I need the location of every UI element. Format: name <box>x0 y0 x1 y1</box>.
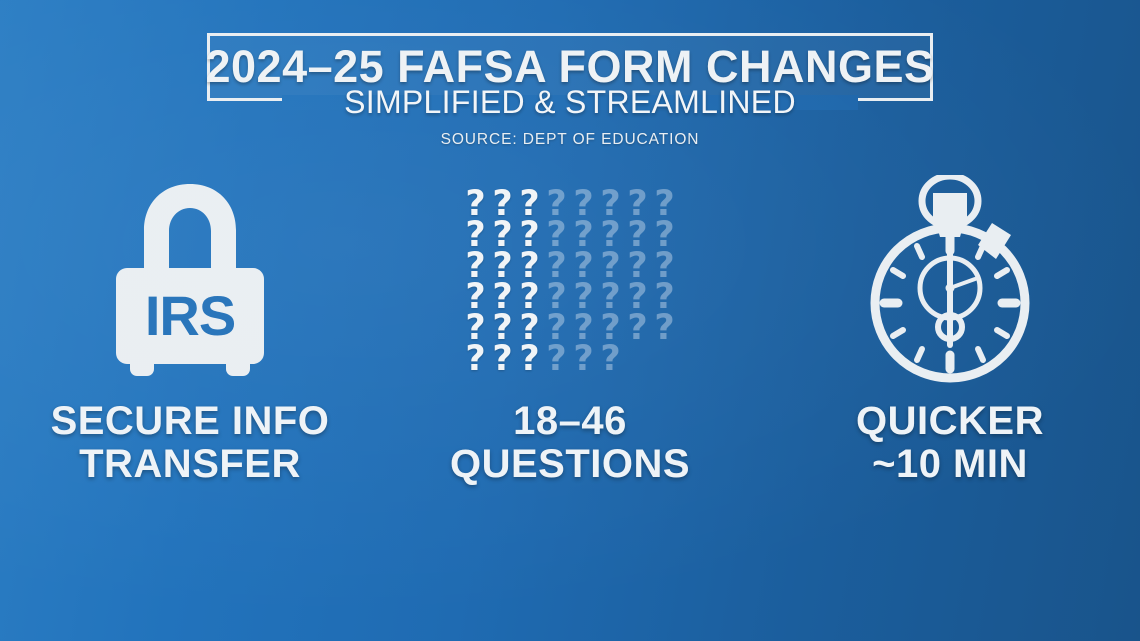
source-attribution: SOURCE: DEPT OF EDUCATION <box>0 131 1140 149</box>
question-mark-empty-slot <box>651 344 678 375</box>
caption-quicker: QUICKER ~10 MIN <box>856 400 1044 486</box>
icon-area-3 <box>861 168 1039 396</box>
column-questions: ????????????????????????????????????????… <box>380 168 760 508</box>
columns-container: IRS SECURE INFO TRANSFER ???????????????… <box>0 168 1140 508</box>
question-mark-grid-icon: ????????????????????????????????????????… <box>462 189 678 375</box>
stopwatch-icon <box>861 175 1039 390</box>
caption-secure-info-transfer: SECURE INFO TRANSFER <box>51 400 330 486</box>
caption-questions: 18–46 QUESTIONS <box>450 400 690 486</box>
question-mark-bright: ? <box>462 344 489 375</box>
question-mark-dim: ? <box>651 313 678 344</box>
icon-area-1: IRS <box>106 168 274 396</box>
question-mark-empty-slot <box>624 344 651 375</box>
question-mark-dim: ? <box>624 313 651 344</box>
question-mark-dim: ? <box>597 344 624 375</box>
padlock-irs-label: IRS <box>145 284 235 347</box>
question-mark-bright: ? <box>489 344 516 375</box>
page-subtitle: SIMPLIFIED & STREAMLINED <box>0 84 1140 121</box>
question-mark-dim: ? <box>570 344 597 375</box>
icon-area-2: ????????????????????????????????????????… <box>462 168 678 396</box>
question-mark-bright: ? <box>516 344 543 375</box>
infographic-canvas: 2024–25 FAFSA FORM CHANGES SIMPLIFIED & … <box>0 0 1140 641</box>
title-block: 2024–25 FAFSA FORM CHANGES SIMPLIFIED & … <box>0 0 1140 165</box>
column-secure-info-transfer: IRS SECURE INFO TRANSFER <box>0 168 380 508</box>
column-quicker: QUICKER ~10 MIN <box>760 168 1140 508</box>
padlock-irs-icon: IRS <box>106 178 274 386</box>
question-mark-dim: ? <box>543 344 570 375</box>
